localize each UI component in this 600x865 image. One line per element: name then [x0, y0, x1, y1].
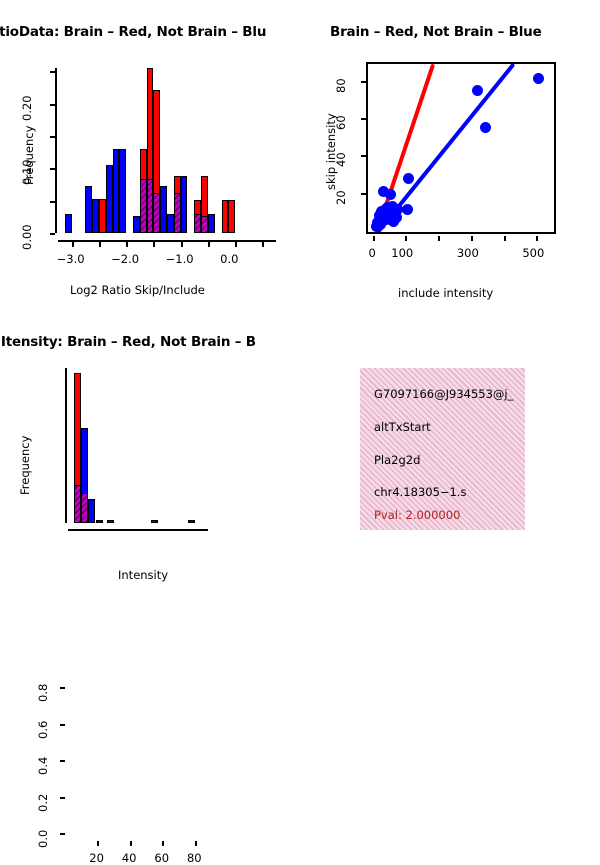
- ratio-xtick: [181, 242, 183, 247]
- ratio-bar-not-brain: [167, 214, 174, 233]
- ratio-bar-brain: [222, 200, 229, 233]
- scatter-ytick: [361, 193, 366, 195]
- ratio-ytick: [50, 104, 55, 106]
- intensity-ytick-label: 0.8: [36, 684, 50, 702]
- scatter-ytick-label: 60: [334, 115, 348, 130]
- ratio-bar-not-brain: [119, 149, 126, 233]
- scatter-xtick: [536, 236, 538, 241]
- scatter-ytick: [361, 81, 366, 83]
- ratio-xtick: [72, 242, 74, 247]
- panel-info: G7097166@J934553@j_ altTxStart Pla2g2d c…: [300, 310, 600, 600]
- intensity-ytick: [60, 797, 65, 799]
- scatter-point: [402, 204, 413, 215]
- ratio-xtick: [262, 242, 264, 247]
- scatter-xtick-label: 100: [391, 246, 413, 260]
- intensity-hist-title: ne Itensity: Brain – Red, Not Brain – B: [0, 334, 256, 350]
- ratio-ytick: [50, 233, 55, 235]
- intensity-ytick: [60, 833, 65, 835]
- ratio-bar-not-brain: [160, 186, 167, 233]
- ratio-xtick: [126, 242, 128, 247]
- panel-scatter: Brain – Red, Not Brain – Blue skip inten…: [300, 0, 600, 310]
- ratio-xtick-label: 0.0: [220, 252, 238, 266]
- ratio-hist-bars: [58, 65, 276, 233]
- intensity-ytick: [60, 724, 65, 726]
- intensity-bar-not-brain: [151, 520, 158, 523]
- scatter-ytick-label: 80: [334, 78, 348, 93]
- ratio-ytick: [50, 201, 55, 203]
- ratio-ytick-label: 0.00: [20, 224, 34, 250]
- info-line-gene: Pla2g2d: [374, 453, 420, 467]
- ratio-bar-overlap: [194, 214, 201, 233]
- intensity-xtick: [195, 841, 197, 846]
- scatter-xtick-label: 0: [369, 246, 376, 260]
- intensity-ytick-label: 0.0: [36, 830, 50, 848]
- intensity-xtick-label: 80: [187, 851, 202, 865]
- scatter-point: [403, 173, 414, 184]
- intensity-bar-not-brain: [96, 520, 103, 523]
- ratio-bar-overlap: [201, 216, 208, 233]
- scatter-ytick: [361, 118, 366, 120]
- intensity-hist-yaxis: [65, 368, 67, 523]
- ratio-hist-xaxis: [58, 240, 276, 242]
- ratio-bar-not-brain: [65, 214, 72, 233]
- intensity-bar-not-brain: [88, 499, 95, 523]
- scatter-xtick: [504, 236, 506, 241]
- ratio-ytick: [50, 168, 55, 170]
- intensity-xtick-label: 60: [154, 851, 169, 865]
- intensity-ytick: [60, 760, 65, 762]
- intensity-xtick-label: 20: [89, 851, 104, 865]
- ratio-bar-overlap: [174, 193, 181, 233]
- ratio-hist-yaxis: [55, 68, 57, 233]
- ratio-bar-not-brain: [113, 149, 120, 233]
- ratio-ytick-label: 0.10: [20, 160, 34, 186]
- scatter-ytick-label: 40: [334, 153, 348, 168]
- scatter-xtick-label: 300: [457, 246, 479, 260]
- info-line-id: G7097166@J934553@j_: [374, 387, 513, 401]
- ratio-bar-not-brain: [85, 186, 92, 233]
- intensity-bar-not-brain: [107, 520, 114, 523]
- scatter-plot-area: [366, 62, 556, 234]
- ratio-bar-not-brain: [106, 165, 113, 233]
- ratio-bar-not-brain: [181, 176, 188, 233]
- intensity-hist-ylabel: Frequency: [18, 436, 32, 495]
- scatter-title: Brain – Red, Not Brain – Blue: [330, 24, 542, 40]
- ratio-xtick-label: −2.0: [111, 252, 139, 266]
- intensity-hist-bars: [68, 368, 208, 523]
- ratio-xtick: [235, 242, 237, 247]
- intensity-ytick-label: 0.4: [36, 757, 50, 775]
- ratio-bar-not-brain: [208, 214, 215, 233]
- scatter-xtick-label: 500: [522, 246, 544, 260]
- intensity-xtick: [130, 841, 132, 846]
- intensity-ytick: [60, 687, 65, 689]
- info-line-pval: Pval: 2.000000: [374, 508, 460, 522]
- scatter-xtick: [405, 236, 407, 241]
- ratio-bar-not-brain: [133, 216, 140, 233]
- intensity-xtick: [97, 841, 99, 846]
- intensity-bar-overlap: [81, 493, 88, 523]
- info-line-locus: chr4.18305−1.s: [374, 485, 467, 499]
- ratio-bar-brain: [228, 200, 235, 233]
- scatter-xtick: [471, 236, 473, 241]
- ratio-ytick: [50, 71, 55, 73]
- ratio-bar-brain: [99, 199, 106, 233]
- scatter-xlabel: include intensity: [398, 286, 493, 300]
- ratio-hist-title: RatioData: Brain – Red, Not Brain – Blu: [0, 24, 266, 40]
- intensity-bar-not-brain: [188, 520, 195, 523]
- intensity-xtick-label: 40: [122, 851, 137, 865]
- info-legend-box: G7097166@J934553@j_ altTxStart Pla2g2d c…: [360, 368, 525, 530]
- intensity-hist-xlabel: Intensity: [118, 568, 168, 582]
- ratio-xtick-label: −3.0: [57, 252, 85, 266]
- scatter-xtick: [438, 236, 440, 241]
- panel-ratio-histogram: RatioData: Brain – Red, Not Brain – Blu …: [0, 0, 300, 310]
- ratio-bar-overlap: [147, 179, 154, 233]
- ratio-hist-xlabel: Log2 Ratio Skip/Include: [70, 283, 205, 297]
- scatter-point: [385, 189, 396, 200]
- scatter-xtick: [373, 236, 375, 241]
- intensity-hist-xaxis: [68, 529, 208, 531]
- scatter-point: [480, 122, 491, 133]
- ratio-xtick: [153, 242, 155, 247]
- ratio-ytick-label: 0.20: [20, 95, 34, 121]
- ratio-xtick: [99, 242, 101, 247]
- ratio-xtick-label: −1.0: [166, 252, 194, 266]
- ratio-bar-not-brain: [92, 199, 99, 233]
- scatter-point: [533, 73, 544, 84]
- ratio-bar-overlap: [153, 193, 160, 233]
- info-line-event: altTxStart: [374, 420, 431, 434]
- panel-intensity-histogram: ne Itensity: Brain – Red, Not Brain – B …: [0, 310, 300, 600]
- intensity-ytick-label: 0.6: [36, 720, 50, 738]
- intensity-xtick: [162, 841, 164, 846]
- intensity-ytick-label: 0.2: [36, 793, 50, 811]
- ratio-ytick: [50, 136, 55, 138]
- ratio-xtick: [208, 242, 210, 247]
- scatter-point: [472, 85, 483, 96]
- intensity-bar-overlap: [74, 485, 81, 523]
- ratio-bar-overlap: [140, 179, 147, 233]
- scatter-ytick: [361, 155, 366, 157]
- scatter-ytick-label: 20: [334, 190, 348, 205]
